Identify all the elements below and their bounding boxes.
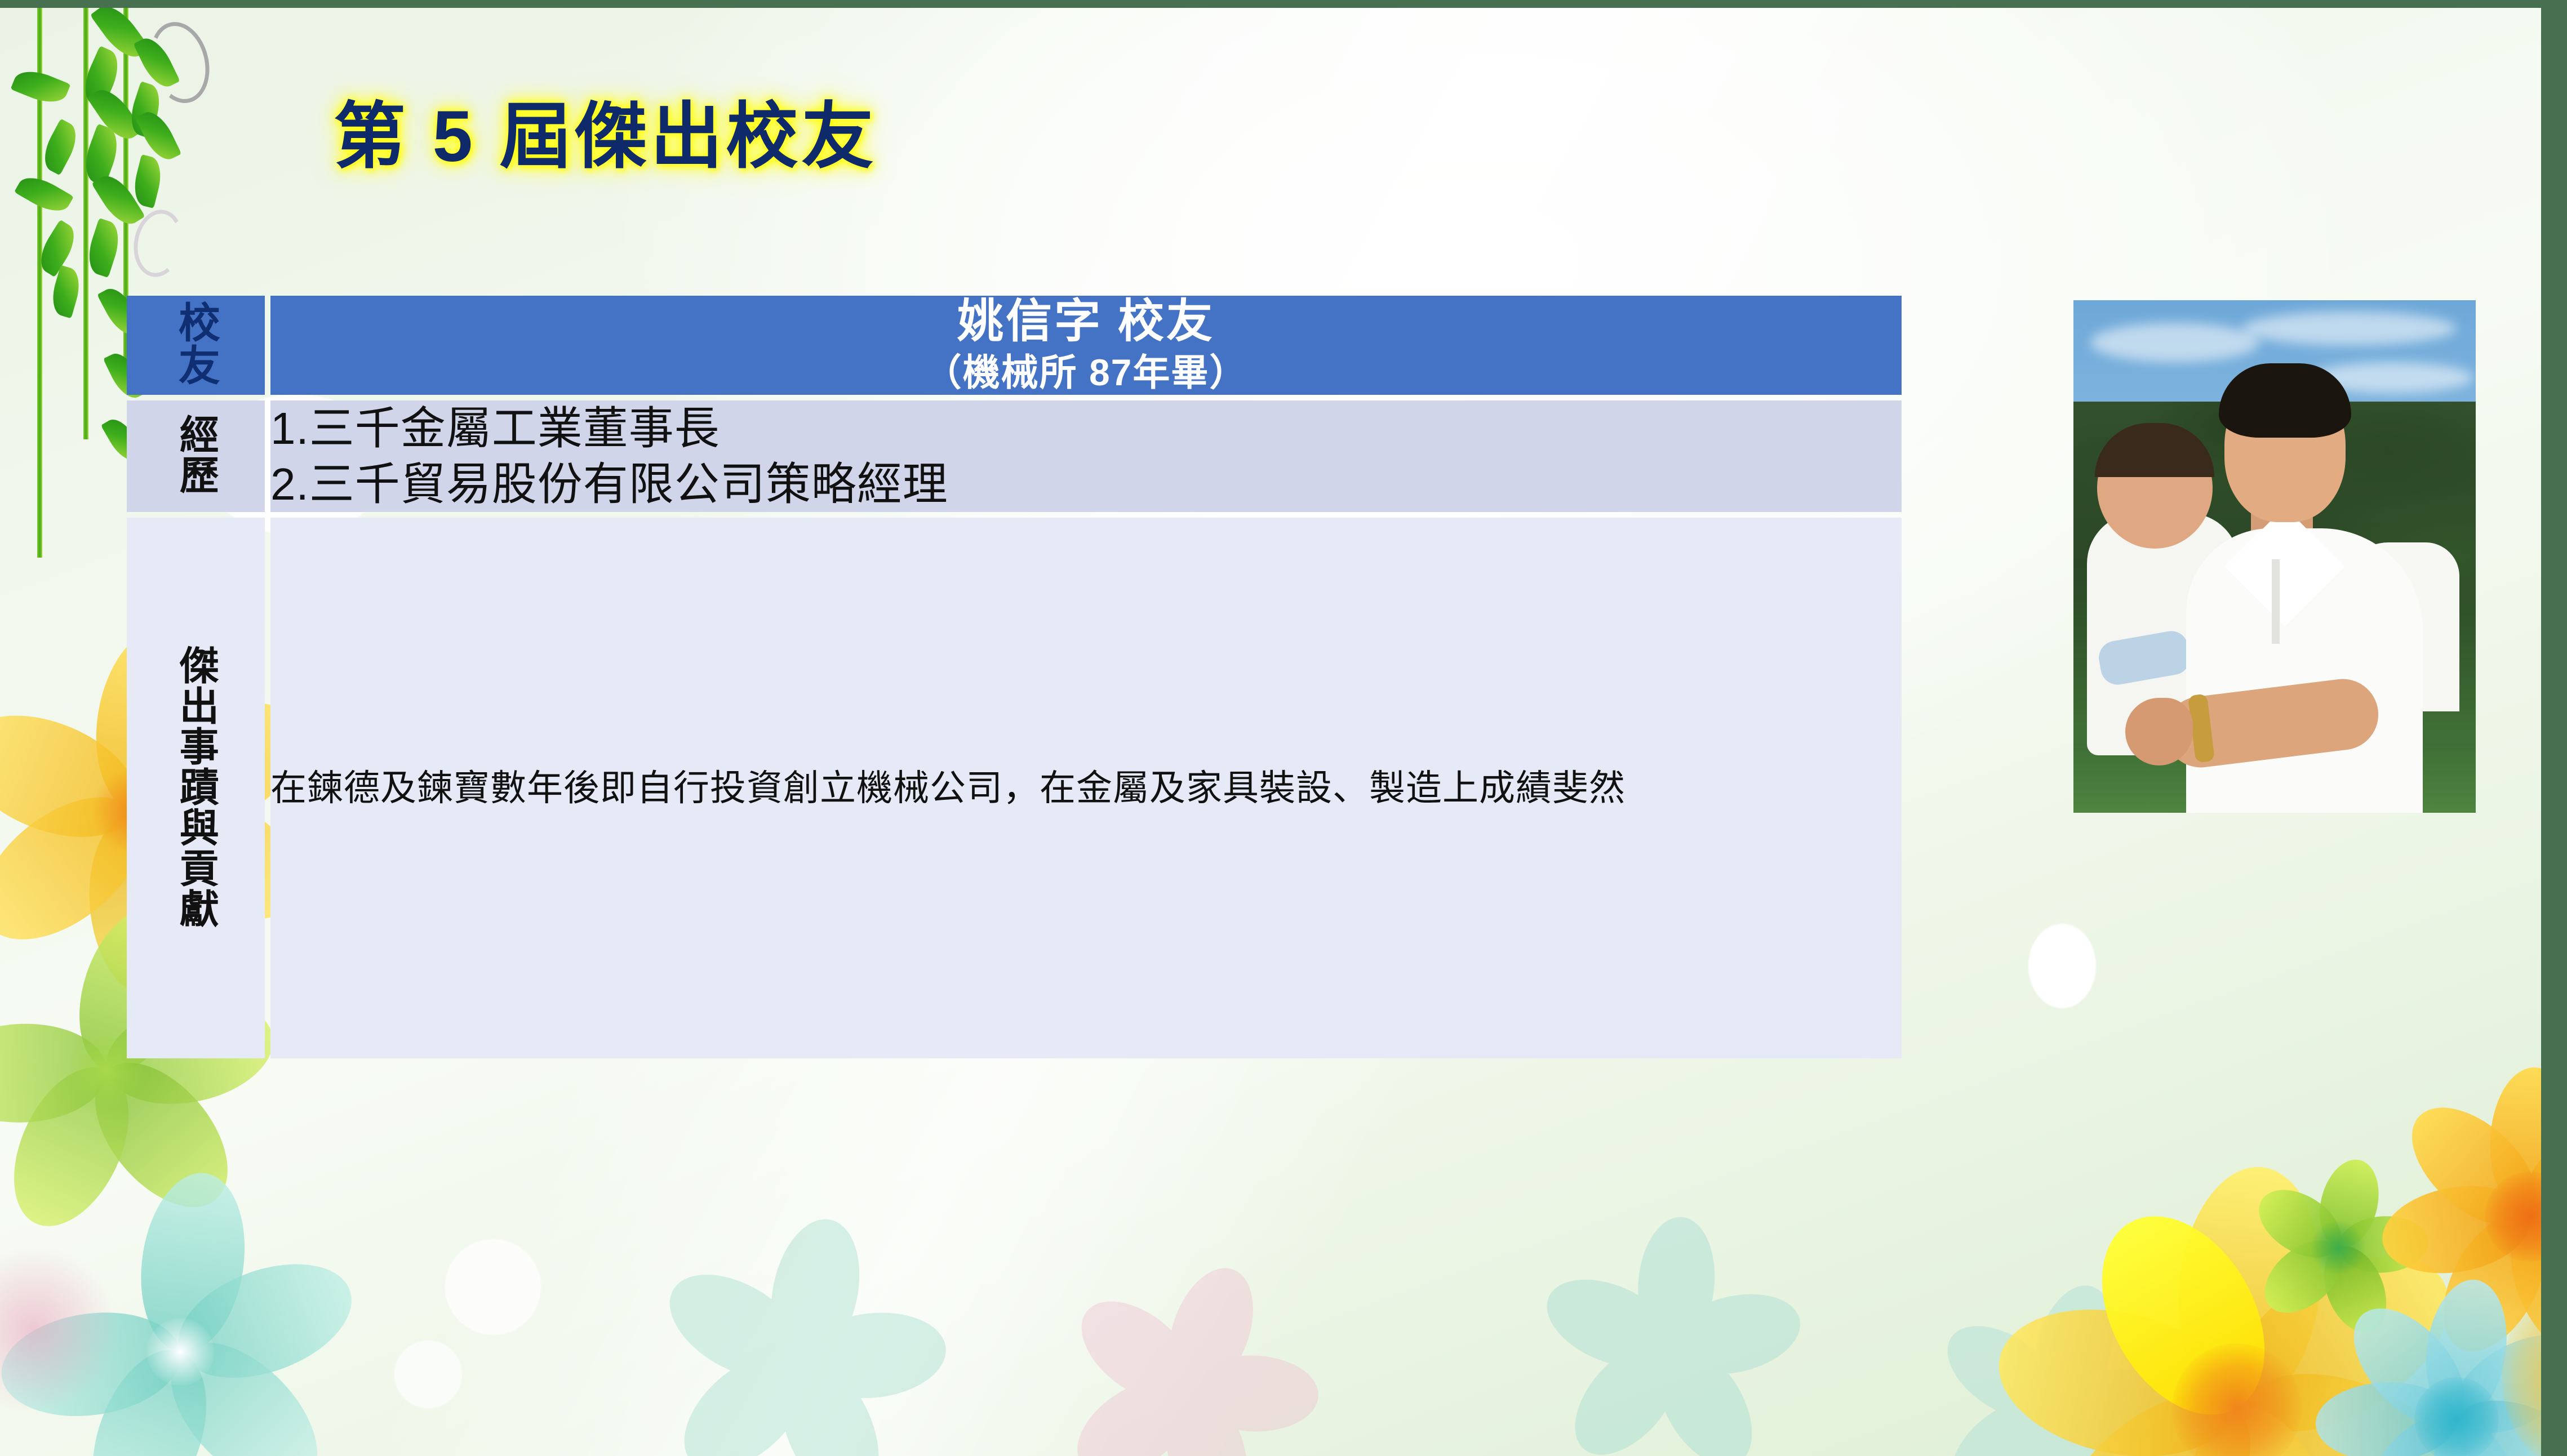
alumni-photo	[2073, 300, 2476, 813]
page-title: 第 5 屆傑出校友	[334, 78, 877, 182]
table-row-experience: 經歷 1.三千金屬工業董事長 2.三千貿易股份有限公司策略經理	[127, 400, 1902, 512]
top-frame-bar	[0, 0, 2567, 8]
row-label-text: 經歷	[176, 414, 216, 495]
photo-cloud	[2090, 323, 2259, 362]
experience-item: 2.三千貿易股份有限公司策略經理	[270, 456, 1902, 512]
photo-cloud	[2242, 311, 2457, 345]
row-label-alumni: 校友	[127, 296, 265, 395]
table-row-achievements: 傑出事蹟與貢獻 在鍊德及鍊寶數年後即自行投資創立機械公司，在金屬及家具裝設、製造…	[127, 518, 1902, 1058]
photo-man-hand	[2125, 698, 2193, 765]
photo-man-placket	[2272, 559, 2280, 644]
table-row-header: 校友 姚信字 校友 （機械所 87年畢）	[127, 296, 1902, 395]
row-label-experience: 經歷	[127, 400, 265, 512]
vine-stem-2	[83, 0, 88, 439]
alumni-name: 姚信字 校友	[270, 296, 1902, 348]
alumni-department-year: （機械所 87年畢）	[270, 351, 1902, 395]
alumni-info-table: 校友 姚信字 校友 （機械所 87年畢） 經歷 1.三千金屬工業董事長 2.三千…	[121, 290, 1907, 1064]
experience-item: 1.三千金屬工業董事長	[270, 400, 1902, 456]
slide-canvas: 第 5 屆傑出校友 校友 姚信字 校友 （機械所 87年畢） 經歷 1.三千金屬…	[0, 0, 2567, 1456]
row-label-text: 校友	[175, 301, 217, 386]
row-label-achievements: 傑出事蹟與貢獻	[127, 518, 265, 1058]
experience-cell: 1.三千金屬工業董事長 2.三千貿易股份有限公司策略經理	[270, 400, 1902, 512]
achievements-paragraph: 在鍊德及鍊寶數年後即自行投資創立機械公司，在金屬及家具裝設、製造上成績斐然	[270, 762, 1902, 815]
right-frame-bar	[2541, 0, 2567, 1456]
row-label-text: 傑出事蹟與貢獻	[176, 645, 216, 929]
achievements-cell: 在鍊德及鍊寶數年後即自行投資創立機械公司，在金屬及家具裝設、製造上成績斐然	[270, 518, 1902, 1058]
photo-man-hair	[2219, 363, 2351, 438]
alumni-header-cell: 姚信字 校友 （機械所 87年畢）	[270, 296, 1902, 395]
